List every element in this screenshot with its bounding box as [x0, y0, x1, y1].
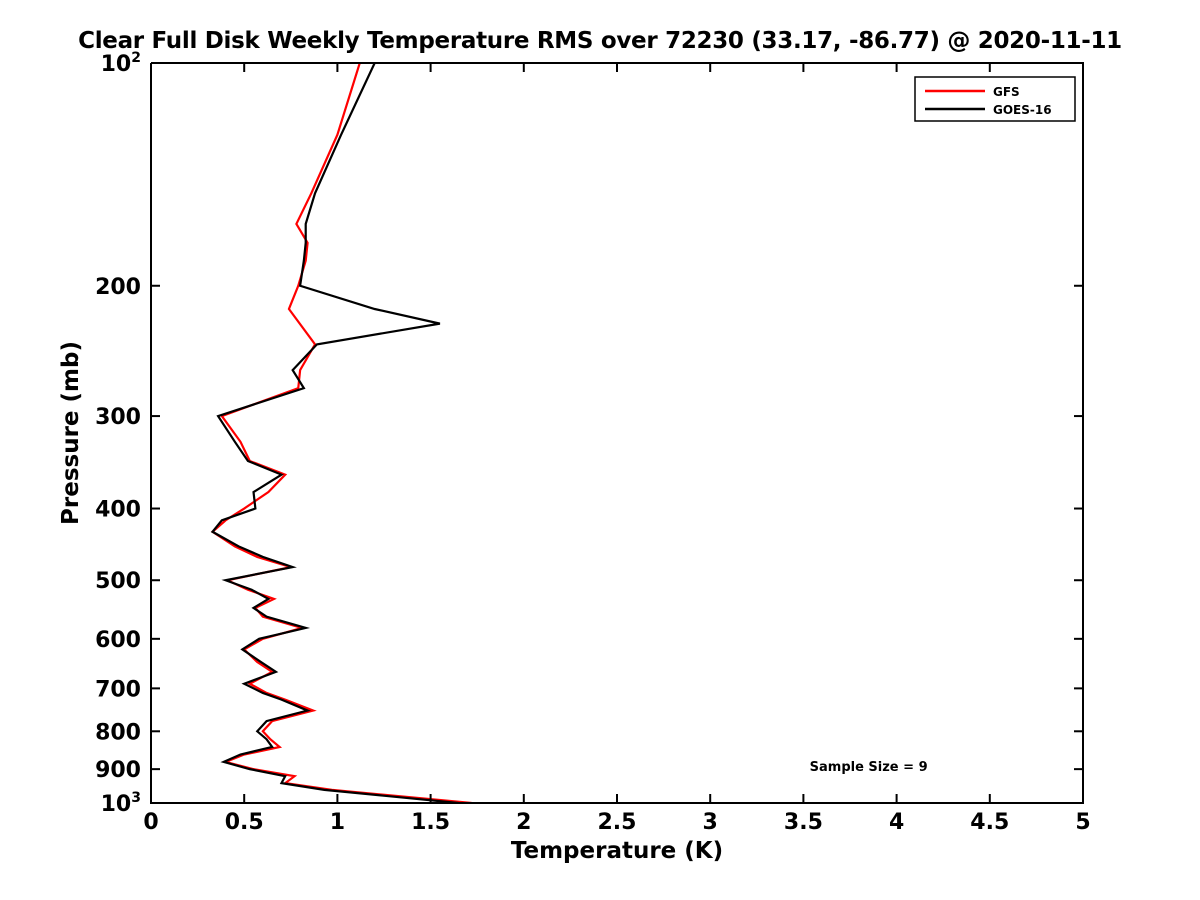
legend-label-gfs: GFS [993, 85, 1020, 99]
x-tick-label: 4 [889, 810, 904, 835]
y-tick-label: 200 [95, 275, 141, 300]
y-tick-label: 900 [95, 758, 141, 783]
axes-frame [151, 63, 1083, 803]
x-tick-label: 0 [143, 810, 158, 835]
y-tick-labels: 102200300400500600700800900103 [95, 50, 141, 817]
sample-size-annotation: Sample Size = 9 [810, 760, 928, 775]
y-tick-label: 600 [95, 628, 141, 653]
x-tick-label: 2.5 [598, 810, 637, 835]
chart-legend: GFSGOES-16 [915, 77, 1075, 121]
x-tick-label: 3.5 [784, 810, 823, 835]
x-tick-label: 0.5 [225, 810, 264, 835]
chart-figure: Clear Full Disk Weekly Temperature RMS o… [0, 0, 1200, 900]
y-tick-label: 800 [95, 720, 141, 745]
x-tick-label: 2 [516, 810, 531, 835]
x-tick-label: 1.5 [411, 810, 450, 835]
x-tick-label: 1 [330, 810, 345, 835]
y-tick-label: 500 [95, 569, 141, 594]
series-line-gfs [213, 63, 472, 803]
axes-group [151, 63, 1083, 803]
y-tick-label: 103 [101, 790, 141, 817]
temperature-rms-profile-plot: 00.511.522.533.544.55 102200300400500600… [0, 0, 1200, 900]
x-tick-label: 4.5 [970, 810, 1009, 835]
tick-marks-group [151, 63, 1083, 803]
annotations-group: Sample Size = 9 [810, 760, 928, 775]
legend-label-goes-16: GOES-16 [993, 103, 1052, 117]
y-tick-label: 400 [95, 498, 141, 523]
y-tick-label: 300 [95, 405, 141, 430]
y-axis-label: Pressure (mb) [58, 341, 84, 525]
series-line-goes-16 [213, 63, 459, 803]
data-series-group [213, 63, 472, 803]
x-tick-label: 3 [703, 810, 718, 835]
x-tick-label: 5 [1075, 810, 1090, 835]
x-tick-labels: 00.511.522.533.544.55 [143, 810, 1090, 835]
y-tick-label: 700 [95, 677, 141, 702]
x-axis-label: Temperature (K) [511, 838, 723, 864]
y-tick-label: 102 [101, 50, 141, 77]
